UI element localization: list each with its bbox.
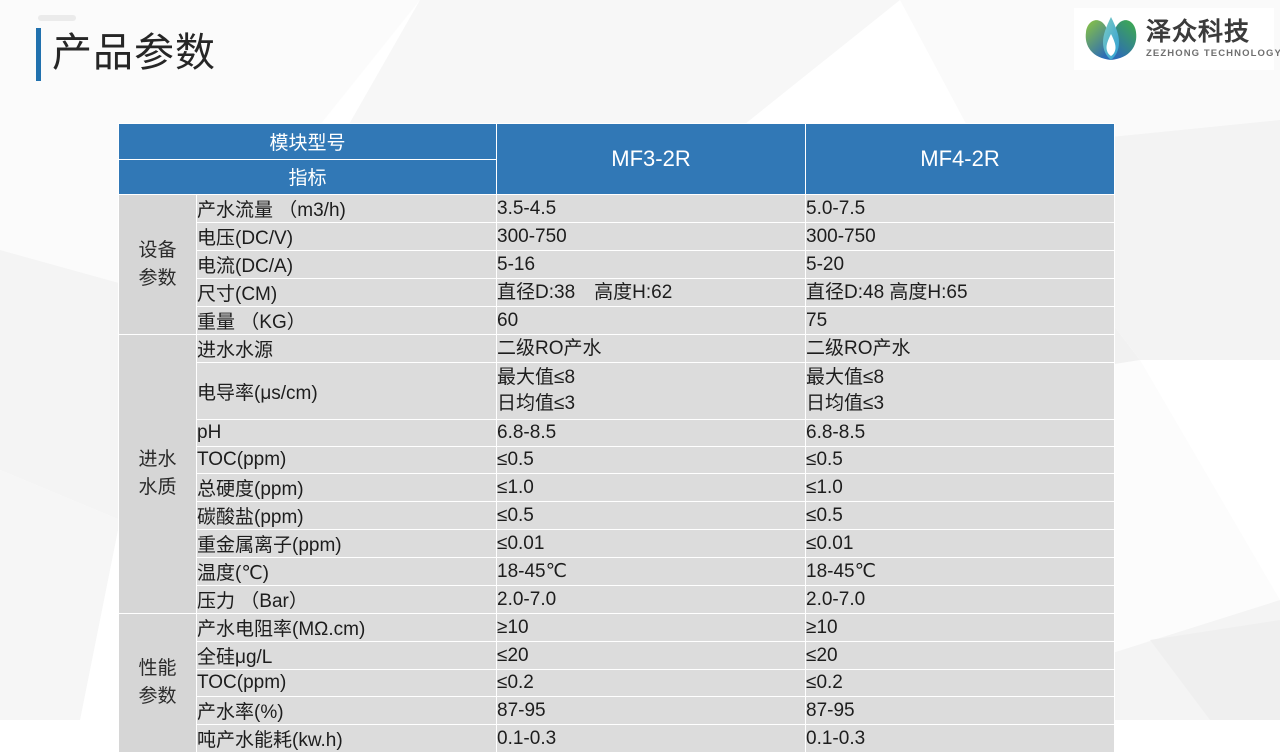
spec-value-mf4: 0.1-0.3 <box>806 725 1115 753</box>
spec-value-mf4: 87-95 <box>806 697 1115 725</box>
row-group-label: 性能参数 <box>119 614 197 753</box>
logo-text: 泽众科技 ZEZHONG TECHNOLOGY <box>1146 20 1280 59</box>
spec-value-mf3: 直径D:38 高度H:62 <box>497 279 806 307</box>
spec-item-label: 重金属离子(ppm) <box>197 530 497 558</box>
table-row: 压力 （Bar）2.0-7.02.0-7.0 <box>119 586 1115 614</box>
spec-value-mf3: ≤0.5 <box>497 447 806 474</box>
spec-value-mf4: 2.0-7.0 <box>806 586 1115 614</box>
leaf-droplet-logo-icon <box>1082 14 1140 64</box>
spec-item-label: 压力 （Bar） <box>197 586 497 614</box>
spec-item-label: 电导率(μs/cm) <box>197 363 497 420</box>
spec-item-label: 尺寸(CM) <box>197 279 497 307</box>
logo-name-en: ZEZHONG TECHNOLOGY <box>1146 49 1280 59</box>
table-row: TOC(ppm)≤0.5≤0.5 <box>119 447 1115 474</box>
spec-value-mf3: 2.0-7.0 <box>497 586 806 614</box>
table-row: pH6.8-8.56.8-8.5 <box>119 420 1115 447</box>
spec-item-label: 吨产水能耗(kw.h) <box>197 725 497 753</box>
table-row: 产水率(%)87-9587-95 <box>119 697 1115 725</box>
spec-item-label: 产水流量 （m3/h) <box>197 195 497 223</box>
product-spec-table: 模块型号 MF3-2R MF4-2R 指标 设备参数产水流量 （m3/h)3.5… <box>118 123 1115 753</box>
spec-value-mf4: 二级RO产水 <box>806 335 1115 363</box>
spec-value-mf4: ≤0.5 <box>806 447 1115 474</box>
brand-logo: 泽众科技 ZEZHONG TECHNOLOGY <box>1074 8 1274 70</box>
table-row: 电流(DC/A)5-165-20 <box>119 251 1115 279</box>
spec-item-label: 产水率(%) <box>197 697 497 725</box>
column-header-mf4: MF4-2R <box>806 124 1115 195</box>
row-group-label: 设备参数 <box>119 195 197 335</box>
spec-value-mf3: 3.5-4.5 <box>497 195 806 223</box>
spec-item-label: 碳酸盐(ppm) <box>197 502 497 530</box>
product-spec-table-container: 模块型号 MF3-2R MF4-2R 指标 设备参数产水流量 （m3/h)3.5… <box>118 123 1114 753</box>
table-header: 模块型号 MF3-2R MF4-2R 指标 <box>119 124 1115 195</box>
spec-item-label: pH <box>197 420 497 447</box>
table-row: 性能参数产水电阻率(MΩ.cm)≥10≥10 <box>119 614 1115 642</box>
spec-item-label: 电压(DC/V) <box>197 223 497 251</box>
spec-value-mf3: ≥10 <box>497 614 806 642</box>
spec-value-mf4: 300-750 <box>806 223 1115 251</box>
spec-item-label: 全硅μg/L <box>197 642 497 670</box>
spec-value-mf3: 87-95 <box>497 697 806 725</box>
table-row: 重量 （KG）6075 <box>119 307 1115 335</box>
page-title: 产品参数 <box>52 25 216 81</box>
table-row: 尺寸(CM)直径D:38 高度H:62直径D:48 高度H:65 <box>119 279 1115 307</box>
spec-value-mf3: 5-16 <box>497 251 806 279</box>
table-row: 温度(℃)18-45℃18-45℃ <box>119 558 1115 586</box>
spec-value-mf4: 75 <box>806 307 1115 335</box>
spec-value-mf4: ≤1.0 <box>806 474 1115 502</box>
table-row: 电压(DC/V)300-750300-750 <box>119 223 1115 251</box>
spec-value-mf3: 18-45℃ <box>497 558 806 586</box>
table-row: 设备参数产水流量 （m3/h)3.5-4.55.0-7.5 <box>119 195 1115 223</box>
spec-value-mf4: 最大值≤8日均值≤3 <box>806 363 1115 420</box>
spec-item-label: 温度(℃) <box>197 558 497 586</box>
row-group-label: 进水水质 <box>119 335 197 614</box>
spec-value-mf3: ≤20 <box>497 642 806 670</box>
spec-item-label: TOC(ppm) <box>197 670 497 697</box>
spec-item-label: 电流(DC/A) <box>197 251 497 279</box>
header-corner-model-label: 模块型号 <box>119 124 497 160</box>
spec-value-mf3: ≤0.5 <box>497 502 806 530</box>
table-body: 设备参数产水流量 （m3/h)3.5-4.55.0-7.5电压(DC/V)300… <box>119 195 1115 753</box>
spec-value-mf4: ≤0.5 <box>806 502 1115 530</box>
spec-value-mf3: ≤0.01 <box>497 530 806 558</box>
column-header-mf3: MF3-2R <box>497 124 806 195</box>
table-row: 全硅μg/L≤20≤20 <box>119 642 1115 670</box>
spec-item-label: 产水电阻率(MΩ.cm) <box>197 614 497 642</box>
table-row: TOC(ppm)≤0.2≤0.2 <box>119 670 1115 697</box>
spec-value-mf3: ≤0.2 <box>497 670 806 697</box>
logo-name-cn: 泽众科技 <box>1146 20 1280 45</box>
table-header-row-model: 模块型号 MF3-2R MF4-2R <box>119 124 1115 160</box>
spec-item-label: TOC(ppm) <box>197 447 497 474</box>
spec-value-mf3: 0.1-0.3 <box>497 725 806 753</box>
table-row: 总硬度(ppm)≤1.0≤1.0 <box>119 474 1115 502</box>
spec-value-mf3: 6.8-8.5 <box>497 420 806 447</box>
spec-value-mf4: ≤0.01 <box>806 530 1115 558</box>
spec-item-label: 进水水源 <box>197 335 497 363</box>
table-row: 进水水质进水水源二级RO产水二级RO产水 <box>119 335 1115 363</box>
spec-value-mf3: 最大值≤8日均值≤3 <box>497 363 806 420</box>
spec-value-mf3: ≤1.0 <box>497 474 806 502</box>
spec-value-mf4: 6.8-8.5 <box>806 420 1115 447</box>
spec-value-mf4: ≤0.2 <box>806 670 1115 697</box>
spec-value-mf4: ≥10 <box>806 614 1115 642</box>
spec-value-mf4: ≤20 <box>806 642 1115 670</box>
spec-value-mf4: 直径D:48 高度H:65 <box>806 279 1115 307</box>
table-row: 吨产水能耗(kw.h)0.1-0.30.1-0.3 <box>119 725 1115 753</box>
table-row: 重金属离子(ppm)≤0.01≤0.01 <box>119 530 1115 558</box>
title-accent-bar <box>36 28 41 81</box>
title-decoration <box>38 15 76 21</box>
spec-item-label: 总硬度(ppm) <box>197 474 497 502</box>
header-corner-index-label: 指标 <box>119 159 497 195</box>
spec-item-label: 重量 （KG） <box>197 307 497 335</box>
table-row: 碳酸盐(ppm)≤0.5≤0.5 <box>119 502 1115 530</box>
spec-value-mf4: 5-20 <box>806 251 1115 279</box>
table-row: 电导率(μs/cm)最大值≤8日均值≤3最大值≤8日均值≤3 <box>119 363 1115 420</box>
spec-value-mf4: 5.0-7.5 <box>806 195 1115 223</box>
spec-value-mf3: 二级RO产水 <box>497 335 806 363</box>
spec-value-mf4: 18-45℃ <box>806 558 1115 586</box>
spec-value-mf3: 300-750 <box>497 223 806 251</box>
spec-value-mf3: 60 <box>497 307 806 335</box>
